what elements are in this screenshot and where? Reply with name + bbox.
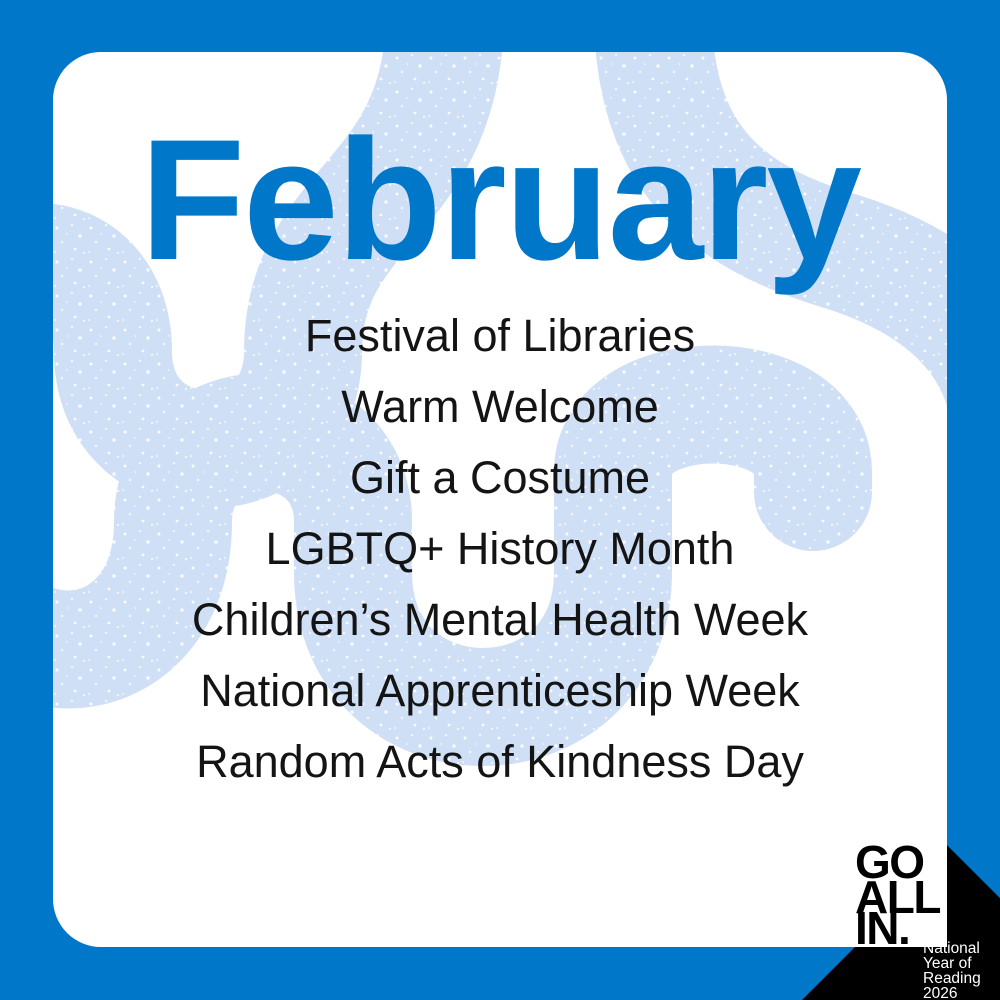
logo-black-field (947, 898, 1000, 1000)
list-item: Warm Welcome (53, 371, 947, 442)
poster-content: February Festival of Libraries Warm Welc… (53, 52, 947, 947)
content-card: February Festival of Libraries Warm Welc… (53, 52, 947, 947)
logo-black-banner-lower (802, 947, 1000, 1000)
list-item: Random Acts of Kindness Day (53, 726, 947, 797)
poster-canvas: February Festival of Libraries Warm Welc… (0, 0, 1000, 1000)
page-title: February (140, 114, 860, 286)
list-item: Children’s Mental Health Week (53, 584, 947, 655)
event-list: Festival of Libraries Warm Welcome Gift … (53, 300, 947, 797)
list-item: National Apprenticeship Week (53, 655, 947, 726)
logo-tagline-line-3: Reading (923, 970, 981, 987)
list-item: Festival of Libraries (53, 300, 947, 371)
list-item: LGBTQ+ History Month (53, 513, 947, 584)
list-item: Gift a Costume (53, 442, 947, 513)
logo-tagline-line-4: 2026 (923, 985, 957, 1000)
logo-tagline-line-2: Year of (923, 955, 972, 972)
logo-black-wedge (947, 845, 1000, 898)
